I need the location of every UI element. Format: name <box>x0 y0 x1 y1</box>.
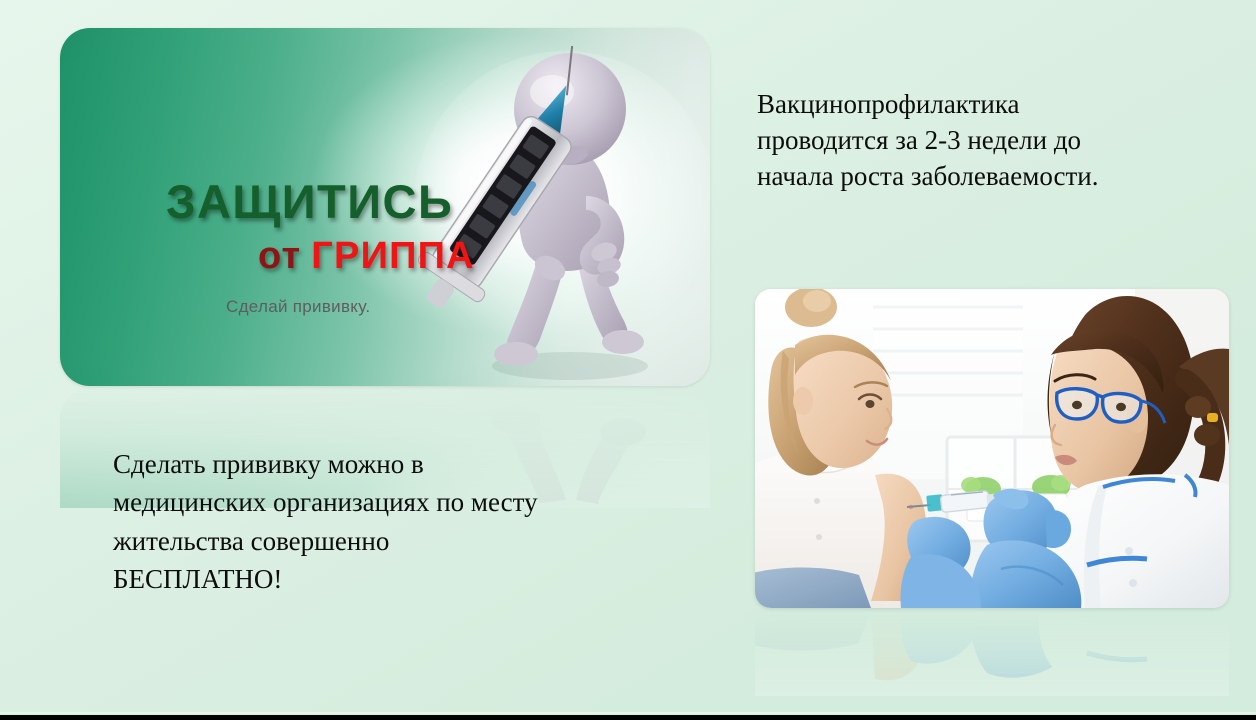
bottom-black-strip <box>0 715 1256 720</box>
presentation-slide: ЗАЩИТИСЬ отГРИППА Сделай прививку. Вакци… <box>0 0 1256 720</box>
right-paragraph-line-3: начала роста заболеваемости. <box>757 158 1197 194</box>
right-paragraph-line-1: Вакцинопрофилактика <box>757 86 1197 122</box>
right-paragraph: Вакцинопрофилактика проводится за 2-3 не… <box>757 86 1197 195</box>
photo-reflection-surface <box>755 610 1229 696</box>
poster-subheadline-main: ГРИППА <box>311 235 474 277</box>
right-paragraph-line-2: проводится за 2-3 недели до <box>757 122 1197 158</box>
left-paragraph-line-2: медицинских организациях по месту <box>113 483 673 521</box>
vaccination-photo-frame <box>755 289 1229 608</box>
vaccination-photo <box>755 289 1229 608</box>
poster-headline: ЗАЩИТИСЬ <box>166 178 566 225</box>
left-paragraph-line-1: Сделать прививку можно в <box>113 445 673 483</box>
left-paragraph-line-3: жительства совершенно <box>113 522 673 560</box>
poster-text-block: ЗАЩИТИСЬ отГРИППА Сделай прививку. <box>166 178 566 317</box>
poster-caption: Сделай прививку. <box>226 297 566 317</box>
photo-reflection <box>755 610 1229 696</box>
photo-reflection-svg <box>755 610 1229 696</box>
left-paragraph-line-4: БЕСПЛАТНО! <box>113 560 673 598</box>
flu-poster-image: ЗАЩИТИСЬ отГРИППА Сделай прививку. <box>60 28 710 386</box>
poster-subheadline-prefix: от <box>258 235 301 277</box>
poster-subheadline: отГРИППА <box>258 237 566 275</box>
left-paragraph: Сделать прививку можно в медицинских орг… <box>113 445 673 598</box>
vaccination-photo-svg <box>755 289 1229 608</box>
poster-canvas: ЗАЩИТИСЬ отГРИППА Сделай прививку. <box>60 28 710 386</box>
